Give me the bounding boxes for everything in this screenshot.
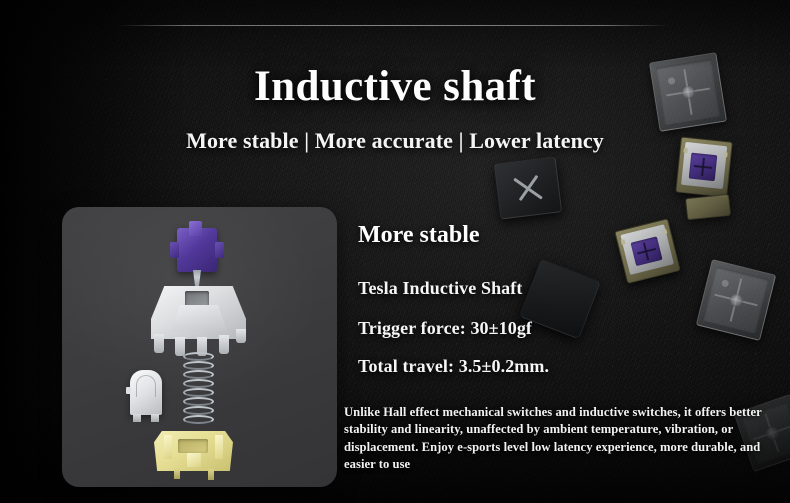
top-housing-part xyxy=(151,286,246,339)
promo-banner: Inductive shaft More stable | More accur… xyxy=(0,0,790,503)
base-pin xyxy=(174,469,180,479)
spring-coil xyxy=(183,415,214,424)
bottom-housing-shadow xyxy=(154,431,233,471)
stem-wing-left xyxy=(170,242,179,258)
spring-coil xyxy=(183,352,214,361)
body-paragraph: Unlike Hall effect mechanical switches a… xyxy=(344,404,769,474)
slider-part xyxy=(130,370,162,415)
spec-line-trigger-force: Trigger force: 30±10gf xyxy=(358,318,532,339)
housing-leg xyxy=(219,335,229,354)
base-pin xyxy=(208,469,214,480)
housing-leg xyxy=(154,334,164,353)
exploded-switch-diagram xyxy=(62,207,337,487)
spec-line-product: Tesla Inductive Shaft xyxy=(358,278,522,299)
spring-coil xyxy=(183,406,214,415)
spec-line-total-travel: Total travel: 3.5±0.2mm. xyxy=(358,356,549,377)
section-heading: More stable xyxy=(358,222,480,249)
inductive-stem-part xyxy=(177,228,217,272)
housing-leg xyxy=(236,329,246,343)
spring-coil xyxy=(183,370,214,379)
copy-column: More stable Tesla Inductive Shaft Trigge… xyxy=(358,0,783,503)
slider-foot xyxy=(151,414,159,422)
housing-face xyxy=(171,305,227,331)
spring-coil xyxy=(183,361,214,370)
product-image-panel xyxy=(62,207,337,487)
stem-wing-right xyxy=(215,242,224,258)
spring-part xyxy=(183,352,214,430)
slider-notch xyxy=(126,387,131,394)
spring-coil xyxy=(183,388,214,397)
spring-coil xyxy=(183,397,214,406)
slider-foot xyxy=(133,414,141,422)
spring-coil xyxy=(183,379,214,388)
stem-ridge xyxy=(189,221,202,236)
slider-arc xyxy=(136,375,156,397)
